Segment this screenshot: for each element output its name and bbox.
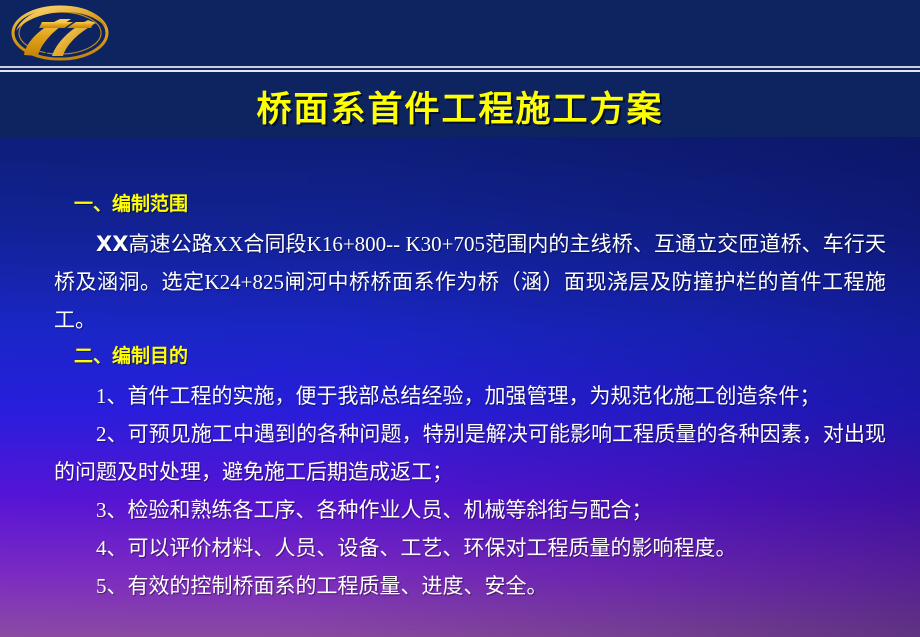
presentation-slide: 桥面系首件工程施工方案 一、编制范围 XX高速公路XX合同段K16+800-- … <box>0 0 920 637</box>
section-1-paragraph-1: XX高速公路XX合同段K16+800-- K30+705范围内的主线桥、互通立交… <box>24 225 896 339</box>
list-item: 1、首件工程的实施，便于我部总结经验，加强管理，为规范化施工创造条件； <box>24 377 896 415</box>
header-band <box>0 0 920 66</box>
header-divider-rule <box>0 66 920 75</box>
prefix-xx: XX <box>96 232 128 256</box>
list-item: 5、有效的控制桥面系的工程质量、进度、安全。 <box>24 567 896 605</box>
section-heading-1: 一、编制范围 <box>24 189 896 219</box>
list-item: 4、可以评价材料、人员、设备、工艺、环保对工程质量的影响程度。 <box>24 529 896 567</box>
section-heading-2: 二、编制目的 <box>24 341 896 371</box>
page-title: 桥面系首件工程施工方案 <box>0 75 920 137</box>
company-highway-logo-icon <box>8 3 112 63</box>
list-item: 2、可预见施工中遇到的各种问题，特别是解决可能影响工程质量的各种因素，对出现的问… <box>24 415 896 491</box>
list-item: 3、检验和熟练各工序、各种作业人员、机械等斜街与配合； <box>24 491 896 529</box>
section-1-paragraph-1-text: 高速公路XX合同段K16+800-- K30+705范围内的主线桥、互通立交匝道… <box>54 232 886 332</box>
slide-body: 一、编制范围 XX高速公路XX合同段K16+800-- K30+705范围内的主… <box>0 137 920 637</box>
